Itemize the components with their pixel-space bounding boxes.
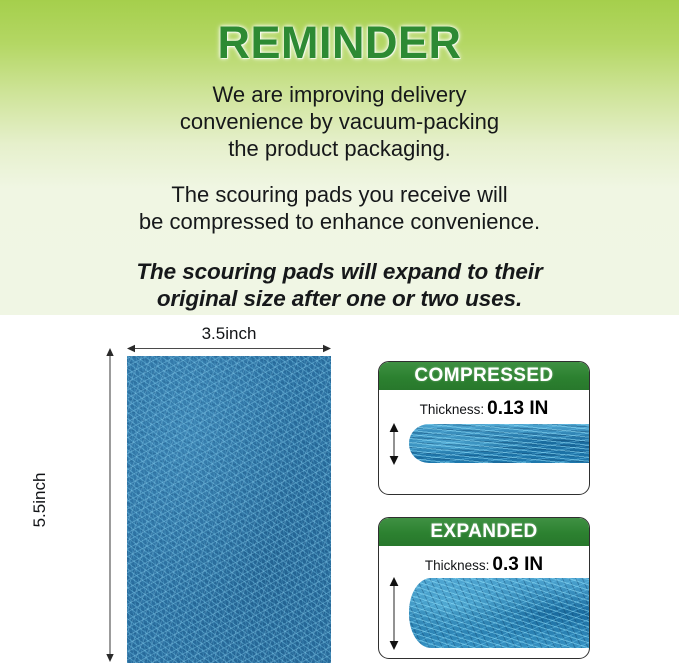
page-title: REMINDER	[0, 16, 679, 73]
expanded-thickness-arrow-icon	[387, 577, 401, 650]
expanded-thickness-row: Thickness:0.3 IN	[379, 546, 589, 576]
thickness-value: 0.13 IN	[487, 398, 548, 419]
compressed-pad-strip-image	[409, 424, 590, 463]
thickness-label: Thickness:	[425, 558, 490, 573]
reminder-banner: REMINDER We are improving delivery conve…	[0, 0, 679, 315]
pad-width-label: 3.5inch	[127, 324, 331, 344]
paragraph-line: be compressed to enhance convenience.	[30, 209, 649, 236]
compressed-card-header: COMPRESSED	[379, 362, 589, 390]
paragraph-line: The scouring pads you receive will	[30, 182, 649, 209]
width-dimension-arrow-icon	[127, 343, 331, 354]
reminder-paragraph-3: The scouring pads will expand to their o…	[0, 236, 679, 312]
height-dimension-arrow-icon	[104, 348, 116, 662]
paragraph-line: We are improving delivery	[30, 82, 649, 109]
paragraph-line: the product packaging.	[30, 136, 649, 163]
compressed-card-body: Thickness:0.13 IN	[379, 390, 589, 494]
thickness-label: Thickness:	[420, 402, 485, 417]
compressed-info-card: COMPRESSED Thickness:0.13 IN	[378, 361, 590, 495]
compressed-thickness-row: Thickness:0.13 IN	[379, 390, 589, 420]
reminder-paragraph-2: The scouring pads you receive will be co…	[0, 162, 679, 236]
pad-height-label: 5.5inch	[30, 440, 50, 560]
thickness-value: 0.3 IN	[492, 554, 543, 575]
expanded-info-card: EXPANDED Thickness:0.3 IN	[378, 517, 590, 659]
scouring-pad-image	[127, 356, 331, 663]
paragraph-line: The scouring pads will expand to their	[30, 258, 649, 285]
expanded-card-body: Thickness:0.3 IN	[379, 546, 589, 658]
paragraph-line: original size after one or two uses.	[30, 285, 649, 312]
compressed-thickness-arrow-icon	[387, 423, 401, 465]
expanded-card-header: EXPANDED	[379, 518, 589, 546]
paragraph-line: convenience by vacuum-packing	[30, 109, 649, 136]
expanded-pad-strip-image	[409, 578, 590, 648]
reminder-paragraph-1: We are improving delivery convenience by…	[0, 73, 679, 162]
